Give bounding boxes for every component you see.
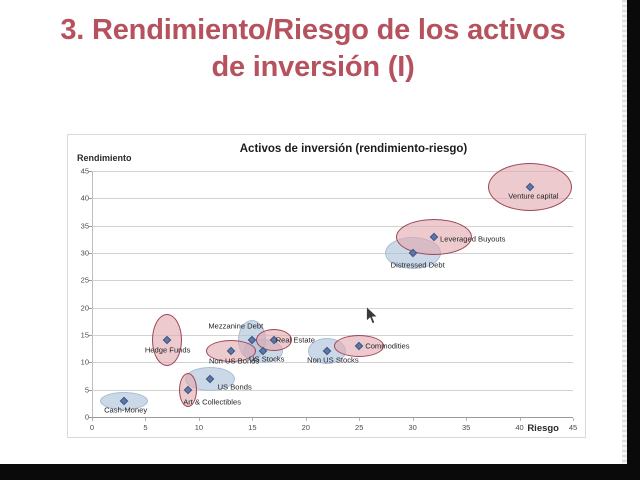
y-axis-tick-label: 40 [81, 194, 89, 203]
gridline [92, 308, 573, 309]
y-axis-tick-mark [89, 226, 92, 227]
gridline [92, 253, 573, 254]
slide-screenshot: 3. Rendimiento/Riesgo de los activos de … [0, 0, 640, 480]
gridline [92, 390, 573, 391]
x-axis-tick-label: 0 [90, 423, 94, 432]
x-axis-tick-label: 15 [248, 423, 256, 432]
y-axis-tick-label: 15 [81, 331, 89, 340]
x-axis-line [92, 417, 573, 418]
page-title-line-1: 3. Rendimiento/Riesgo de los activos [18, 12, 608, 49]
chart-title: Activos de inversión (rendimiento-riesgo… [68, 143, 587, 155]
gridline [92, 280, 573, 281]
x-axis-tick-label: 10 [195, 423, 203, 432]
y-axis-tick-label: 30 [81, 249, 89, 258]
x-axis-tick-mark [520, 418, 521, 421]
y-axis-title: Rendimiento [77, 153, 132, 163]
x-axis-tick-label: 20 [302, 423, 310, 432]
y-axis-tick-mark [89, 335, 92, 336]
x-axis-tick-mark [199, 418, 200, 421]
data-point-label: Commodities [365, 341, 409, 350]
data-point-label: Cash-Money [104, 405, 147, 414]
data-point-label: Leveraged Buyouts [440, 234, 505, 243]
x-axis-tick-mark [466, 418, 467, 421]
x-axis-tick-mark [573, 418, 574, 421]
gridline [92, 226, 573, 227]
y-axis-tick-mark [89, 171, 92, 172]
y-axis-tick-mark [89, 198, 92, 199]
bottom-letterbox-bar [0, 464, 640, 480]
x-axis-tick-mark [413, 418, 414, 421]
y-axis-tick-mark [89, 280, 92, 281]
data-point-label: Real Estate [276, 336, 315, 345]
data-point-label: US Stocks [249, 355, 284, 364]
data-point-label: Hedge Funds [145, 346, 191, 355]
x-axis-title: Riesgo [527, 423, 559, 434]
chart-panel: Activos de inversión (rendimiento-riesgo… [67, 134, 586, 438]
page-title-line-2: de inversión (I) [18, 49, 608, 86]
data-point-label: Distressed Debt [391, 261, 445, 270]
data-point-label: US Bonds [218, 382, 252, 391]
x-axis-tick-mark [252, 418, 253, 421]
data-point-label: Art & Collectibles [183, 397, 241, 406]
y-axis-tick-label: 20 [81, 303, 89, 312]
x-axis-tick-mark [92, 418, 93, 421]
data-point-label: Mezzanine Debt [208, 322, 263, 331]
x-axis-tick-mark [145, 418, 146, 421]
x-axis-tick-label: 30 [408, 423, 416, 432]
x-axis-tick-mark [359, 418, 360, 421]
x-axis-tick-label: 25 [355, 423, 363, 432]
y-axis-tick-mark [89, 390, 92, 391]
y-axis-tick-label: 25 [81, 276, 89, 285]
x-axis-tick-label: 35 [462, 423, 470, 432]
y-axis-line [92, 171, 93, 418]
x-axis-tick-mark [306, 418, 307, 421]
x-axis-tick-label: 45 [569, 423, 577, 432]
right-letterbox-bar [627, 0, 640, 480]
data-point-label: Non US Stocks [307, 356, 359, 365]
y-axis-tick-label: 45 [81, 167, 89, 176]
y-axis-tick-mark [89, 253, 92, 254]
data-point-label: Venture capital [508, 192, 558, 201]
page-title: 3. Rendimiento/Riesgo de los activos de … [18, 12, 608, 86]
y-axis-tick-label: 35 [81, 221, 89, 230]
plot-area: 051015202530354045051015202530354045Cash… [92, 171, 573, 417]
y-axis-tick-label: 10 [81, 358, 89, 367]
x-axis-tick-label: 5 [143, 423, 147, 432]
y-axis-tick-mark [89, 362, 92, 363]
y-axis-tick-mark [89, 308, 92, 309]
x-axis-tick-label: 40 [515, 423, 523, 432]
